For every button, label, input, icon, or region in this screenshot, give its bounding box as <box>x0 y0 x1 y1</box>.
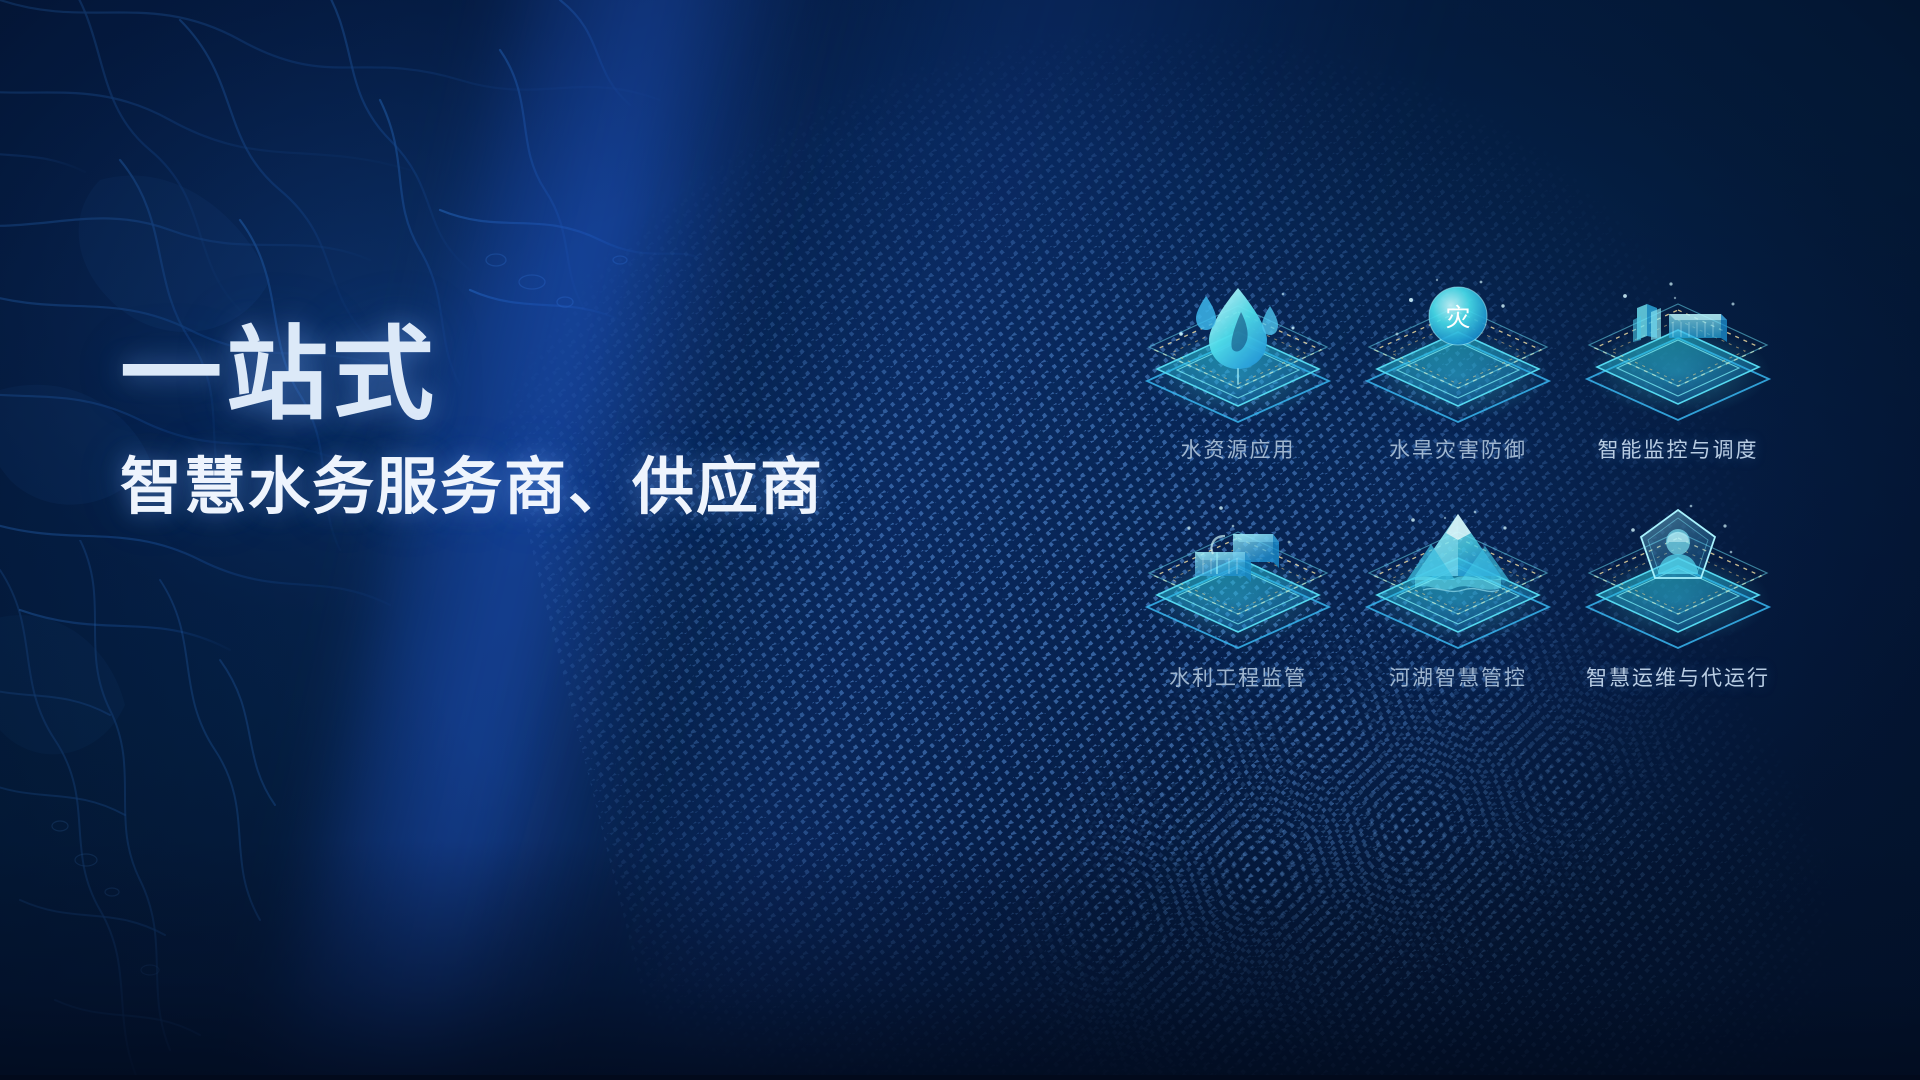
icon-label: 智慧运维与代运行 <box>1586 662 1770 692</box>
service-icon-grid: 水资源应用 <box>1128 268 1788 724</box>
grid-item-smart-ops-managed-operation[interactable]: 智慧运维与代运行 <box>1568 496 1788 724</box>
grid-item-intelligent-monitoring-dispatch[interactable]: 智能监控与调度 <box>1568 268 1788 496</box>
grid-item-flood-drought-disaster-defense[interactable]: 灾 水旱灾害防御 <box>1348 268 1568 496</box>
icon-label: 水利工程监管 <box>1169 662 1307 692</box>
icon-label: 水旱灾害防御 <box>1389 434 1527 464</box>
grid-item-water-conservancy-project-supervision[interactable]: 水利工程监管 <box>1128 496 1348 724</box>
icon-label: 河湖智慧管控 <box>1389 662 1527 692</box>
water-vein-texture-bottom-left <box>0 540 580 1080</box>
icon-label: 水资源应用 <box>1181 434 1296 464</box>
diagonal-light-band <box>131 0 880 1080</box>
page-title: 一站式 <box>120 322 1020 428</box>
headline-block: 一站式 智慧水务服务商、供应商 <box>120 322 1020 522</box>
shield-operations-platform-icon <box>1573 496 1783 656</box>
bottom-fade-overlay <box>0 840 1920 1080</box>
disaster-character: 灾 <box>1445 304 1470 332</box>
mountain-river-platform-icon <box>1353 496 1563 656</box>
bottom-edge-line <box>0 1075 1920 1080</box>
facility-supervision-platform-icon <box>1133 496 1343 656</box>
water-droplet-platform-icon <box>1133 268 1343 428</box>
slide-canvas: 一站式 智慧水务服务商、供应商 <box>0 0 1920 1080</box>
disaster-sphere-platform-icon: 灾 <box>1353 268 1563 428</box>
dam-monitoring-platform-icon <box>1573 268 1783 428</box>
grid-item-water-resource-application[interactable]: 水资源应用 <box>1128 268 1348 496</box>
icon-label: 智能监控与调度 <box>1598 434 1759 464</box>
grid-item-river-lake-smart-control[interactable]: 河湖智慧管控 <box>1348 496 1568 724</box>
page-subtitle: 智慧水务服务商、供应商 <box>120 454 1020 522</box>
